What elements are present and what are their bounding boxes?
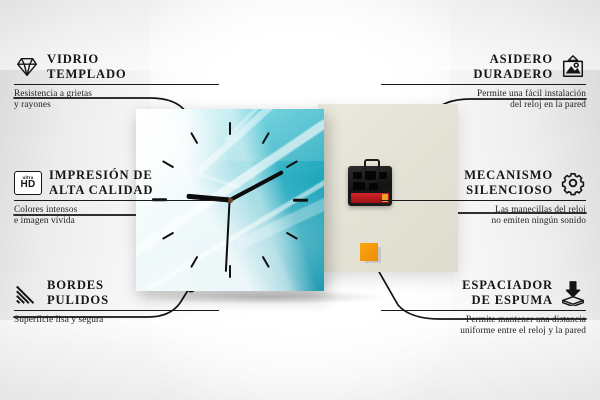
diagonal-stripes-icon (14, 280, 40, 306)
feature-desc-line1: Las manecillas del reloj (381, 205, 586, 216)
feature-vidrio-templado: VIDRIO TEMPLADO Resistencia a grietas y … (14, 52, 219, 112)
feature-espaciador-de-espuma: ESPACIADOR DE ESPUMA Permite mantener un… (381, 278, 586, 338)
feature-desc-line2: e imagen vívida (14, 216, 219, 227)
feature-rule (14, 310, 219, 311)
feature-title-line1: ESPACIADOR (462, 278, 553, 293)
feature-title-line1: IMPRESIÓN DE (49, 168, 153, 183)
feature-title-line2: TEMPLADO (47, 67, 127, 82)
mechanism-hanger-tab (364, 159, 380, 170)
ultra-hd-icon: ultra HD (14, 171, 42, 195)
feature-desc-line1: Superficie lisa y segura (14, 315, 219, 326)
feature-desc-line2: no emiten ningún sonido (381, 216, 586, 227)
feature-title-line2: DURADERO (473, 67, 553, 82)
picture-hanger-icon (560, 54, 586, 80)
feature-desc-line1: Permite mantener una distancia (381, 315, 586, 326)
feature-desc-line1: Colores intensos (14, 205, 219, 216)
feature-desc-line1: Permite una fácil instalación (381, 89, 586, 100)
feature-title-line1: MECANISMO (464, 168, 553, 183)
feature-asidero-duradero: ASIDERO DURADERO Permite una fácil insta… (381, 52, 586, 112)
feature-bordes-pulidos: BORDES PULIDOS Superficie lisa y segura (14, 278, 219, 326)
feature-title-line2: PULIDOS (47, 293, 109, 308)
feature-rule (381, 200, 586, 201)
feature-title-line1: VIDRIO (47, 52, 127, 67)
arrow-onto-layer-icon (560, 280, 586, 306)
feature-title-line1: BORDES (47, 278, 109, 293)
ultra-hd-icon-large-text: HD (20, 180, 35, 190)
gear-icon (560, 170, 586, 196)
feature-desc-line1: Resistencia a grietas (14, 89, 219, 100)
foam-spacer-piece (360, 243, 378, 261)
feature-title-line2: SILENCIOSO (464, 183, 553, 198)
feature-rule (14, 200, 219, 201)
feature-rule (381, 310, 586, 311)
clock-tick-3 (293, 199, 308, 202)
feature-rule (14, 84, 219, 85)
clock-center-hub (228, 198, 233, 203)
feature-rule (381, 84, 586, 85)
feature-impresion-alta-calidad: ultra HD IMPRESIÓN DE ALTA CALIDAD Color… (14, 168, 219, 228)
feature-desc-line2: del reloj en la pared (381, 100, 586, 111)
feature-title-line2: DE ESPUMA (462, 293, 553, 308)
feature-desc-line2: y rayones (14, 100, 219, 111)
feature-desc-line2: uniforme entre el reloj y la pared (381, 326, 586, 337)
feature-title-line2: ALTA CALIDAD (49, 183, 153, 198)
infographic-canvas: VIDRIO TEMPLADO Resistencia a grietas y … (0, 0, 600, 400)
diamond-icon (14, 54, 40, 80)
feature-mecanismo-silencioso: MECANISMO SILENCIOSO Las manecillas del … (381, 168, 586, 228)
clock-tick-6 (229, 265, 231, 278)
feature-title-line1: ASIDERO (473, 52, 553, 67)
clock-tick-12 (229, 122, 231, 135)
